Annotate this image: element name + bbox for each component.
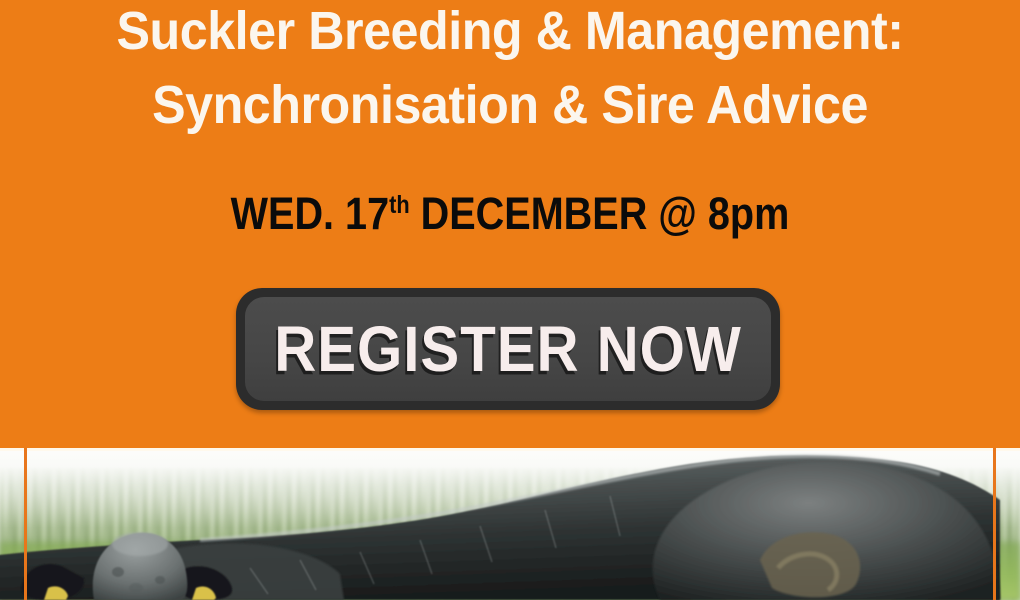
headline-line-2: Synchronisation & Sire Advice	[36, 68, 985, 142]
event-promo-poster: Suckler Breeding & Management: Synchroni…	[0, 0, 1020, 600]
headline-line-1: Suckler Breeding & Management:	[36, 0, 985, 68]
register-button-label: REGISTER NOW	[274, 312, 742, 385]
register-button-face[interactable]: REGISTER NOW	[245, 297, 771, 401]
frame-line-left	[24, 448, 27, 600]
event-date-prefix: WED. 17	[231, 188, 389, 239]
photo-top-edge	[0, 448, 1020, 451]
bull-photo	[0, 448, 1020, 600]
event-date-time: WED. 17th DECEMBER @ 8pm	[61, 186, 959, 242]
ordinal-suffix: th	[389, 192, 410, 219]
frame-line-right	[993, 448, 996, 600]
register-now-button[interactable]: REGISTER NOW	[236, 288, 780, 410]
event-date-rest: DECEMBER @ 8pm	[410, 188, 790, 239]
promo-panel: Suckler Breeding & Management: Synchroni…	[0, 0, 1020, 448]
bull-subject	[0, 448, 1020, 600]
page-title: Suckler Breeding & Management: Synchroni…	[36, 0, 985, 142]
